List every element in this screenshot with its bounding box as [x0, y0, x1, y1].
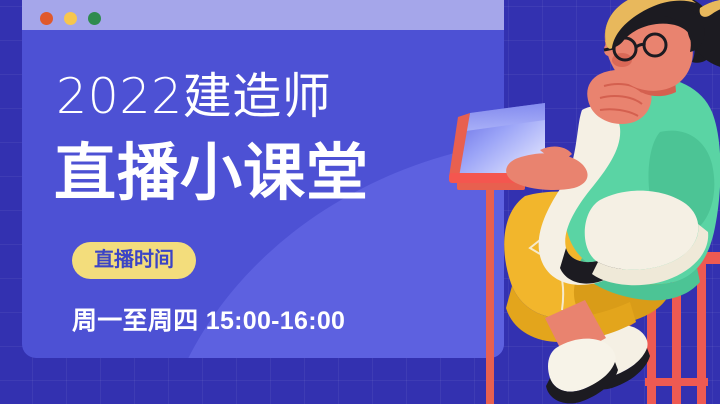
illustration-woman-at-laptop	[0, 0, 720, 404]
live-class-banner: 2022建造师 直播小课堂 直播时间 周一至周四 15:00-16:00	[0, 0, 720, 404]
